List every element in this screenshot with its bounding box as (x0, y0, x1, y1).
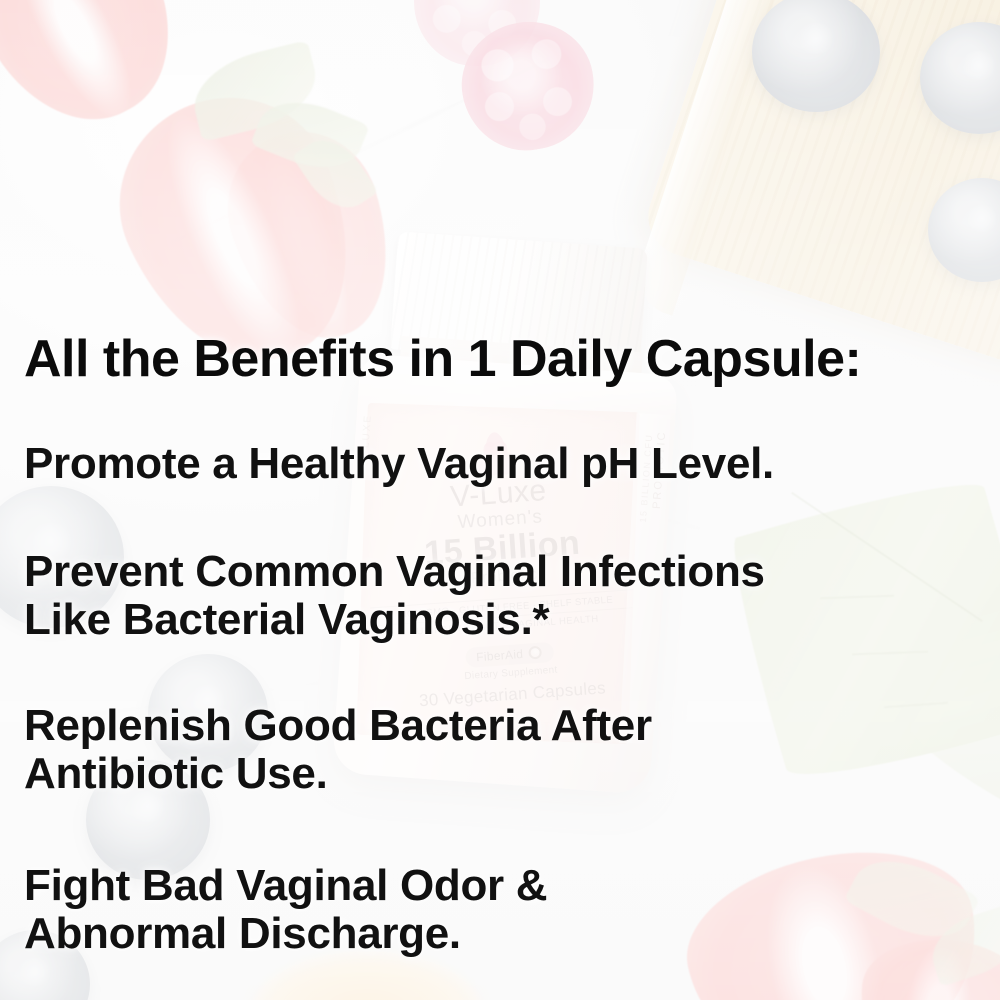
benefit-item-ph: Promote a Healthy Vaginal pH Level. (24, 440, 774, 488)
benefit-item-replenish: Replenish Good Bacteria After Antibiotic… (24, 702, 652, 798)
benefits-copy: All the Benefits in 1 Daily Capsule: Pro… (0, 0, 1000, 1000)
product-benefits-infographic: V-Luxe Women's 15 Billion Probiotic NON-… (0, 0, 1000, 1000)
benefit-line: Replenish Good Bacteria After (24, 702, 652, 750)
benefit-item-odor: Fight Bad Vaginal Odor & Abnormal Discha… (24, 862, 547, 958)
benefit-line: Prevent Common Vaginal Infections (24, 548, 765, 596)
benefit-line: Like Bacterial Vaginosis.* (24, 596, 765, 644)
benefit-line: Abnormal Discharge. (24, 910, 547, 958)
page-title: All the Benefits in 1 Daily Capsule: (24, 333, 984, 386)
benefit-line: Promote a Healthy Vaginal pH Level. (24, 440, 774, 488)
benefit-item-infections: Prevent Common Vaginal Infections Like B… (24, 548, 765, 644)
benefit-line: Fight Bad Vaginal Odor & (24, 862, 547, 910)
benefit-line: Antibiotic Use. (24, 750, 652, 798)
